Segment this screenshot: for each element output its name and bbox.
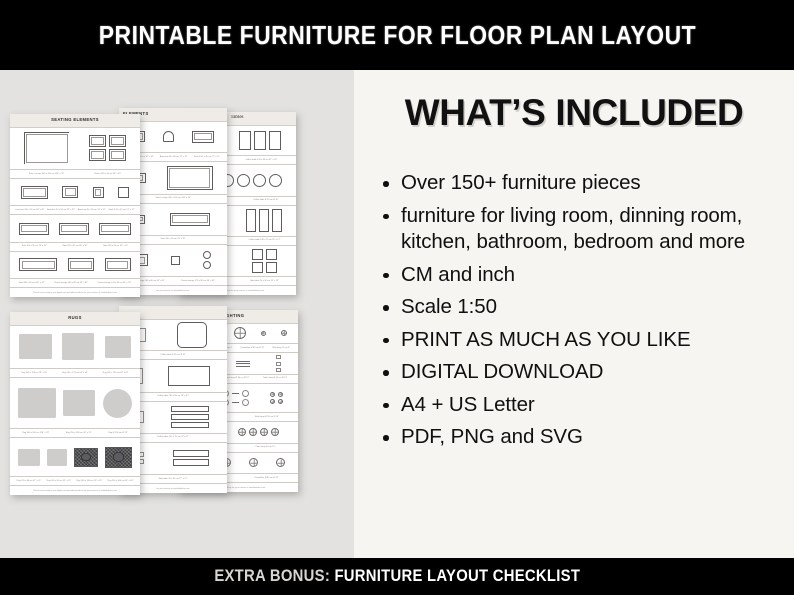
sheet-row [10,252,140,279]
rail-icon [236,361,250,362]
sheet-footer: Check more ready to use digital and prin… [10,287,140,297]
glyph-group [173,450,209,466]
rug-patterned-icon [105,447,132,468]
caption: Armchair 90 x 90 cm 35" x 35" [47,209,75,212]
round-table-icon [237,174,250,187]
footer-text: for your interior at studiolebaku.com [156,488,189,490]
caption: Chaise lounge 170 x 85 cm 66" x 33" [181,280,215,283]
poster-title: PRINTABLE FURNITURE FOR FLOOR PLAN LAYOU… [98,20,695,51]
rug-icon [18,388,56,418]
sheet-footer: Check more ready to use digital and prin… [10,485,140,495]
connector-icon [232,393,239,394]
caption: Sofa 220 x 90 cm 86" x 35" [62,245,87,248]
rug-icon [18,449,40,466]
starburst-lamp-icon [276,458,285,467]
sheet-row [10,378,140,429]
sofa-icon [170,213,210,226]
round-lamp-icon [260,428,268,436]
glyph-group [89,135,126,161]
caption: Sofa 280 x 95 cm 110" x 37" [19,282,45,285]
sheet-body: Rug 200 x 150 cm 78" x 59" Rug 240 x 170… [10,325,140,486]
square-table-icon [266,249,277,260]
sofa-icon [19,223,49,235]
caption: Coffee table Ø 90 cm Ø 35" [253,199,278,202]
sofa-icon [59,223,89,235]
rug-icon [105,336,131,358]
rug-icon [62,333,94,360]
caption: Rug 120 x 80 cm 47" x 31" [17,480,42,483]
caption: Sofa 200 x 90 cm 78" x 35" [160,238,185,241]
round-lamp-icon [238,428,246,436]
bonus-label: EXTRA BONUS: [214,567,330,585]
round-lamp-icon [249,428,257,436]
connector-icon [232,402,239,403]
sheet-title: SEATING ELEMENTS [10,117,140,122]
armchair-icon [93,187,104,198]
rect-table-icon [246,209,256,232]
pouf-icon [203,251,211,259]
chaise-lounge-icon [105,258,131,271]
glyph-group [171,406,209,428]
round-table-icon [253,174,266,187]
rug-icon [47,449,67,466]
list-item: PRINT AS MUCH AS YOU LIKE [380,327,790,354]
caption: Chaise lounge 170 x 85 cm 66" x 33" [97,282,131,285]
bonus-title: EXTRA BONUS: FURNITURE LAYOUT CHECKLIST [214,567,580,586]
caption: Chandelier Ø 80 cm Ø 31" [254,477,278,480]
glyph-group [276,355,281,371]
glyph-group [270,392,283,397]
caption: Rug 200 x 150 cm 78" x 59" [21,372,47,375]
round-table-icon [269,174,282,187]
list-item: Scale 1:50 [380,294,790,321]
list-item: DIGITAL DOWNLOAD [380,359,790,386]
caption: Sofa 240 x 90 cm 94" x 35" [103,245,128,248]
pouf-icon [203,261,211,269]
dining-table-long-icon [168,366,210,386]
caption: Coffee table Ø 90 cm Ø 35" [160,354,185,357]
glyph-group [203,251,211,269]
glyph-group [252,262,277,273]
small-lamp-icon [270,392,275,397]
caption: Rug 240 x 170 cm 94" x 66" [62,372,88,375]
caption: Sofa L-shape 300 x 200 cm 118" x 78" [29,173,64,176]
coffee-table-rect-icon [239,131,251,150]
round-lamp-icon [271,428,279,436]
glyph-group [236,361,250,367]
square-table-icon [252,262,263,273]
sideboard-icon [173,459,209,466]
small-lamp-icon [278,392,283,397]
stool-icon [171,256,180,265]
sideboard-icon [171,406,209,412]
rect-table-icon [272,209,282,232]
caption: Chaise lounge 160 x 80 cm 63" x 31" [54,282,88,285]
page-title: WHAT’S INCLUDED [354,92,794,134]
rug-icon [63,390,95,416]
loveseat-icon [89,149,106,161]
caption: Armchair 80 x 80 cm 31" x 31" [78,209,106,212]
list-item: PDF, PNG and SVG [380,424,790,451]
footer-text: for your interior at studiolebaku.com [156,290,189,292]
glyph-group [89,149,126,161]
caption: Stool S 45 x 45 cm 17" x 17" [194,156,220,159]
caption-row: Rug 300 x 200 cm 118" x 78" Rug 250 x 18… [10,429,140,438]
sheet-seating-elements[interactable]: SEATING ELEMENTS [10,114,140,297]
square-table-icon [252,249,263,260]
list-item: CM and inch [380,262,790,289]
sectional-sofa-icon [24,132,69,164]
small-lamp-icon [270,399,275,404]
preview-pane: Tables [0,70,354,558]
caption: Rug Ø 200 cm Ø 78" [108,432,127,435]
caption: Rug 200 x 150 cm 78" x 59" [77,480,103,483]
caption: Armchair 80 x 80 cm 31" x 31" [160,156,188,159]
chaise-lounge-icon [68,258,94,271]
sconce-pair-icon [242,390,249,397]
caption: Rug 300 x 200 cm 118" x 78" [22,432,49,435]
chandelier-icon [234,327,246,339]
rug-icon [19,334,52,359]
sideboard-icon [173,450,209,457]
caption: Chaise 160 x 90 cm 63" x 35" [94,173,121,176]
caption: Chandelier Ø 80 cm Ø 31" [240,347,264,350]
small-lamp-icon [278,399,283,404]
caption: Sofa 200 x 90 cm 78" x 35" [22,245,47,248]
caption: Coffee table 140 x 70 cm 55" x 27" [157,436,189,439]
caption: Table lamp Ø 35 cm Ø 14" [263,377,287,380]
list-item: furniture for living room, dinning room,… [380,203,790,256]
dining-table-round-icon [177,322,207,348]
frame-icon [276,362,281,366]
caption: Floor lamp 40 cm 15" [256,446,276,449]
caption: Coffee table 120 x 60 cm 47" x 23" [245,159,277,162]
sheet-rugs[interactable]: RUGS Rug 200 x 150 cm 78" x 59" Rug 240 … [10,312,140,495]
footer-text: Check more ready to use digital and prin… [33,292,117,294]
rug-round-icon [103,389,132,418]
glyph-group [252,249,277,273]
bonus-main: FURNITURE LAYOUT CHECKLIST [330,567,580,585]
loveseat-icon [192,131,214,143]
caption: Loveseat 160 x 90 cm 63" x 35" [15,209,44,212]
sheet-band: SEATING ELEMENTS [10,114,140,128]
sheet-band: RUGS [10,312,140,326]
glyph-group [252,249,277,260]
caption: Side table 50 x 50 cm 19" x 19" [250,280,279,283]
caption: Wall lamp 20 cm 8" [272,347,290,350]
footer-text: Check more ready to use digital and prin… [33,490,117,492]
glyph-group [246,209,282,232]
sheet-body: Sofa L-shape 300 x 200 cm 118" x 78" Cha… [10,127,140,288]
coffee-table-rect-icon [254,131,266,150]
glyph-group [270,399,283,404]
rail-icon [236,366,250,367]
sofa-icon [21,186,48,199]
caption: Sofa L-shape 300 x 200 cm 118" x 78" [155,197,190,200]
caption: Stool S 45 x 45 cm 17" x 17" [108,209,134,212]
bottom-banner: EXTRA BONUS: FURNITURE LAYOUT CHECKLIST [0,558,794,595]
caption: Side table 45 x 45 cm 17" x 17" [159,478,188,481]
list-item: A4 + US Letter [380,392,790,419]
caption: Coffee table 180 x 90 cm 70" x 35" [157,395,189,398]
loveseat-icon [109,135,126,147]
square-table-icon [266,262,277,273]
rail-icon [236,363,250,364]
caption: Rug 250 x 180 cm 98" x 70" [66,432,92,435]
starburst-lamp-icon [249,458,258,467]
included-pane: WHAT’S INCLUDED Over 150+ furniture piec… [354,70,794,558]
caption: Coffee table 140 x 70 cm 55" x 27" [249,239,281,242]
poster-body: Tables [0,70,794,558]
top-banner: PRINTABLE FURNITURE FOR FLOOR PLAN LAYOU… [0,0,794,70]
coffee-table-rect-icon [269,131,281,150]
caption: Rug 160 x 120 cm 63" x 47" [103,372,129,375]
caption-row: Loveseat 160 x 90 cm 63" x 35" Armchair … [10,206,140,215]
sheet-row [10,325,140,369]
rect-table-icon [259,209,269,232]
round-chair-icon [163,131,174,142]
glyph-group [238,428,279,436]
sheet-row [10,179,140,206]
sideboard-icon [171,422,209,428]
sheet-row [10,127,140,170]
wall-lamp-icon [261,331,266,336]
glyph-group [239,131,281,150]
sideboard-icon [171,414,209,420]
loveseat-icon [62,186,78,198]
sheet-row [10,438,140,477]
glyph-group [221,174,282,187]
caption: Rug 240 x 160 cm 94" x 63" [108,480,134,483]
rug-patterned-icon [74,448,98,467]
caption-row: Sofa 200 x 90 cm 78" x 35" Sofa 220 x 90… [10,243,140,252]
caption: Rug 140 x 90 cm 55" x 35" [47,480,72,483]
frame-icon [276,355,281,359]
loveseat-icon [89,135,106,147]
caption-row: Sofa L-shape 300 x 200 cm 118" x 78" Cha… [10,170,140,179]
sheet-row [10,215,140,242]
glyph-group [270,392,283,404]
glyph-group [89,135,126,147]
frame-icon [276,368,281,372]
sconce-pair-icon [242,399,249,406]
stool-icon [118,187,129,198]
list-item: Over 150+ furniture pieces [380,170,790,197]
floor-lamp-icon [281,330,287,336]
sectional-sofa-icon [167,166,213,190]
sofa-large-icon [19,258,57,271]
poster-canvas: PRINTABLE FURNITURE FOR FLOOR PLAN LAYOU… [0,0,794,595]
loveseat-icon [109,149,126,161]
sheet-title: RUGS [10,315,140,320]
sofa-icon [99,223,131,235]
caption-row: Rug 200 x 150 cm 78" x 59" Rug 240 x 170… [10,369,140,378]
included-bullet-list: Over 150+ furniture pieces furniture for… [380,170,790,457]
caption: Table lamp Ø 35 cm Ø 14" [255,416,279,419]
